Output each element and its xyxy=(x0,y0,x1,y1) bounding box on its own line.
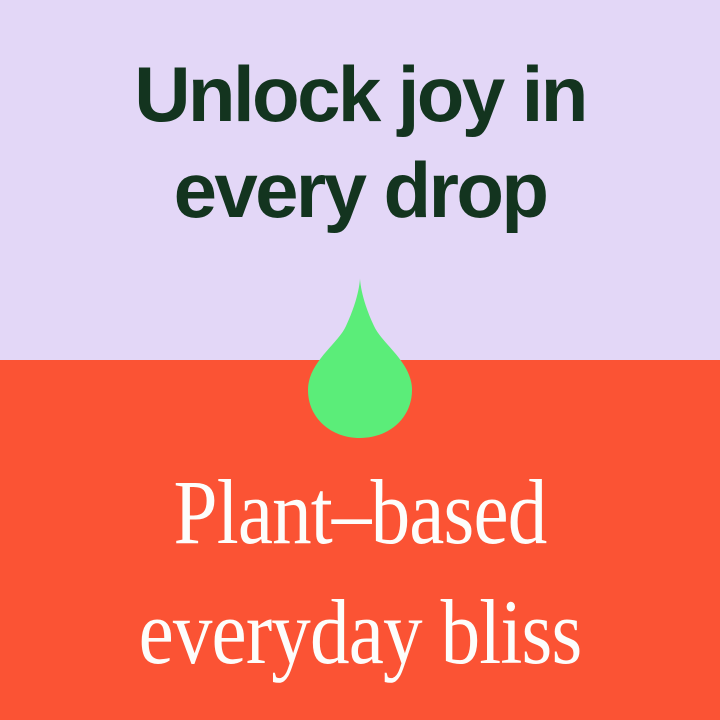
promo-poster: Unlock joy in every drop Plant–based eve… xyxy=(0,0,720,720)
headline-line-2: every drop xyxy=(0,142,720,238)
subline-line-2: everyday bliss xyxy=(50,572,669,692)
water-droplet-icon xyxy=(300,278,420,442)
subline-line-1: Plant–based xyxy=(50,452,669,572)
headline-line-1: Unlock joy in xyxy=(0,46,720,142)
headline: Unlock joy in every drop xyxy=(0,46,720,238)
subline: Plant–based everyday bliss xyxy=(50,452,669,692)
